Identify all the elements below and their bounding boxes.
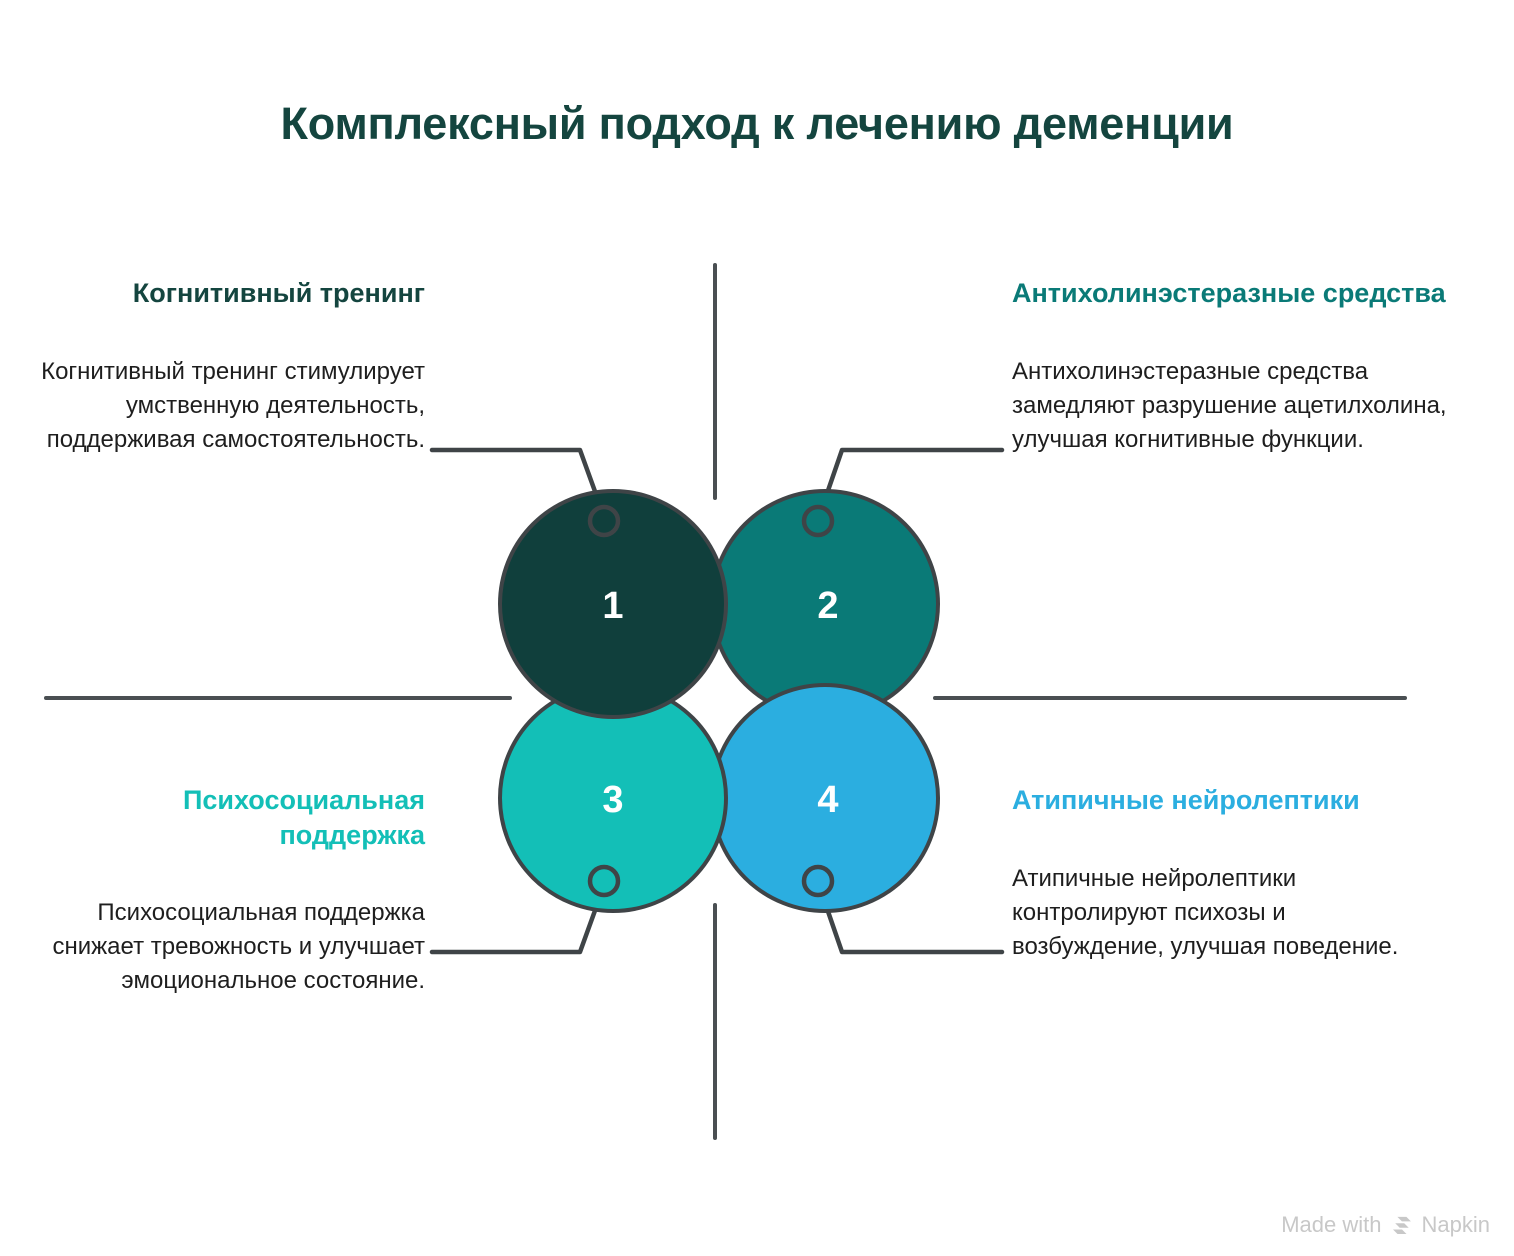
quadrant-3-heading: Психосоциальная поддержка — [40, 783, 425, 852]
quadrant-1-body: Когнитивный тренинг стимулирует умственн… — [40, 355, 425, 457]
quadrant-top-right: Антихолинэстеразные средства Антихолинэс… — [1012, 276, 1452, 457]
watermark: Made with Napkin — [1281, 1212, 1490, 1238]
circle-4-atypical-neuroleptics[interactable] — [712, 685, 938, 911]
quadrant-bottom-left: Психосоциальная поддержка Психосоциальна… — [40, 783, 425, 998]
circle-1-cognitive-training[interactable] — [500, 491, 726, 717]
venn-diagram: 1 2 3 4 — [0, 0, 1514, 1256]
quadrant-4-heading: Атипичные нейролептики — [1012, 783, 1412, 818]
watermark-prefix: Made with — [1281, 1212, 1381, 1238]
circle-group — [500, 491, 938, 911]
page-title: Комплексный подход к лечению деменции — [0, 98, 1514, 150]
quadrant-4-body: Атипичные нейролептики контролируют псих… — [1012, 862, 1412, 964]
quadrant-3-body: Психосоциальная поддержка снижает тревож… — [40, 896, 425, 998]
connector-group — [432, 450, 1002, 952]
quadrant-2-heading: Антихолинэстеразные средства — [1012, 276, 1452, 311]
watermark-brand: Napkin — [1422, 1212, 1490, 1238]
quadrant-2-body: Антихолинэстеразные средства замедляют р… — [1012, 355, 1452, 457]
quadrant-top-left: Когнитивный тренинг Когнитивный тренинг … — [40, 276, 425, 457]
quadrant-bottom-right: Атипичные нейролептики Атипичные нейроле… — [1012, 783, 1412, 964]
napkin-slashes-icon — [1391, 1215, 1413, 1235]
infographic-canvas: Комплексный подход к лечению деменции — [0, 0, 1514, 1256]
quadrant-1-heading: Когнитивный тренинг — [40, 276, 425, 311]
